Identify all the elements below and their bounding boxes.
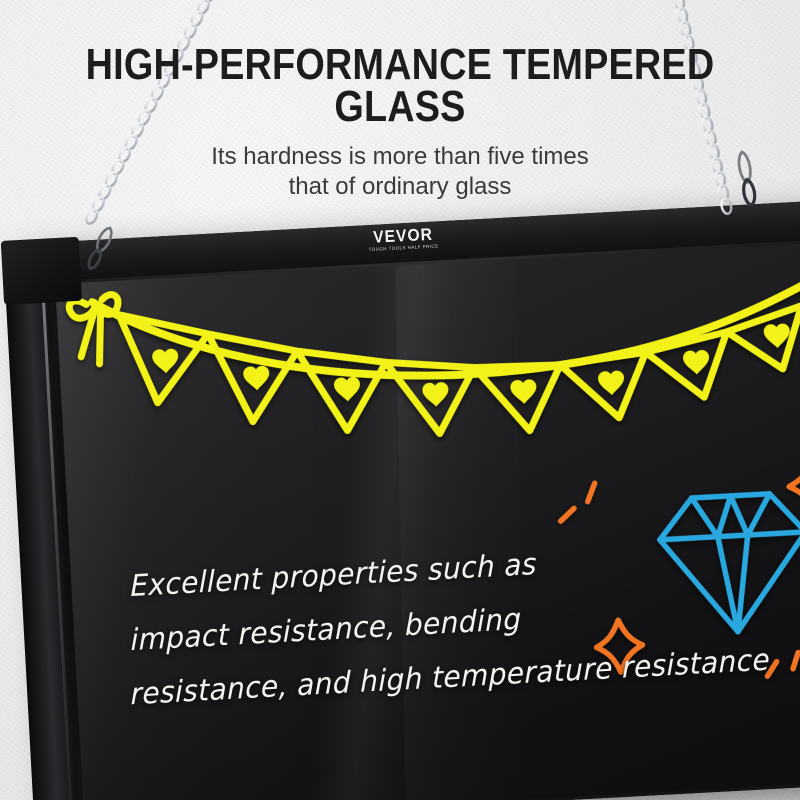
chalk-handwriting: Excellent properties such as impact resi… [130, 525, 769, 722]
product-marketing-image: HIGH-PERFORMANCE TEMPERED GLASS Its hard… [0, 0, 800, 800]
bunting-decoration [69, 255, 800, 455]
board-glass-surface: Excellent properties such as impact resi… [55, 237, 800, 800]
board-corner-bracket [1, 237, 82, 305]
chalkboard: Excellent properties such as impact resi… [0, 228, 800, 800]
